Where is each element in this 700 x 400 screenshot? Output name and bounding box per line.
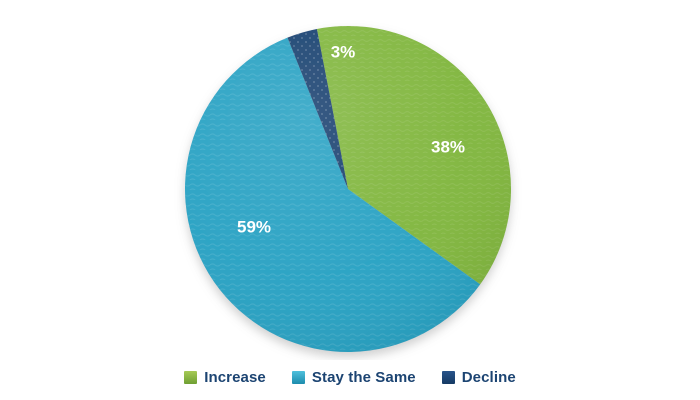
pie-label-increase: 38% — [431, 137, 465, 156]
legend-item-decline[interactable]: Decline — [442, 369, 516, 386]
chart-legend: Increase Stay the Same Decline — [0, 362, 700, 392]
legend-item-stay-the-same[interactable]: Stay the Same — [292, 369, 416, 386]
pie-label-decline: 3% — [331, 42, 356, 61]
pie-label-stay-the-same: 59% — [237, 217, 271, 236]
legend-label-decline: Decline — [462, 369, 516, 386]
pie-chart-svg: 38% 59% 3% — [0, 0, 700, 360]
pie-plot-area: 38% 59% 3% — [0, 0, 700, 360]
pie-chart-figure: 38% 59% 3% Increase Stay the Same Declin… — [0, 0, 700, 400]
legend-label-increase: Increase — [204, 369, 266, 386]
legend-swatch-decline — [442, 371, 455, 384]
legend-swatch-stay-the-same — [292, 371, 305, 384]
pie-slices-group — [185, 26, 511, 352]
legend-swatch-increase — [184, 371, 197, 384]
legend-item-increase[interactable]: Increase — [184, 369, 266, 386]
pie-sheen-overlay — [185, 26, 511, 352]
legend-label-stay-the-same: Stay the Same — [312, 369, 416, 386]
